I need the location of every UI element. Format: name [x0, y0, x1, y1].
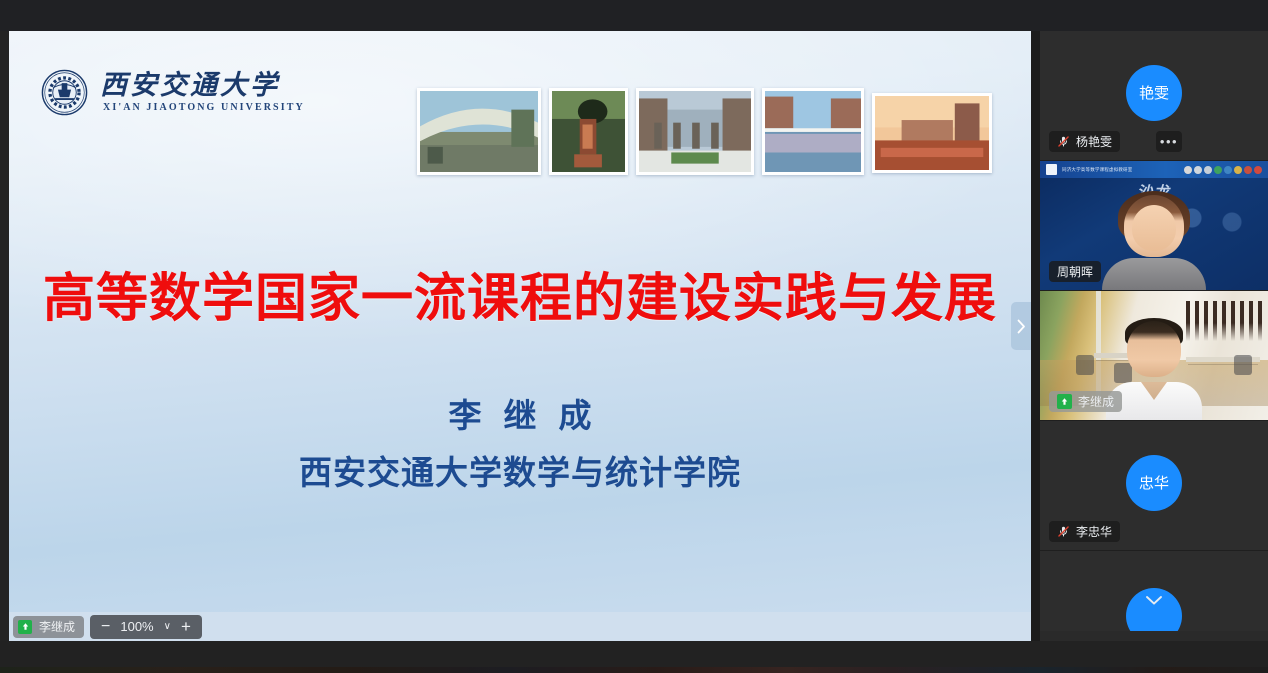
participant-name-badge: 杨艳雯: [1049, 131, 1120, 152]
university-name-cn: 西安交通大学: [100, 72, 305, 100]
campus-photo: [872, 93, 992, 173]
participant-name-badge: 周朝晖: [1049, 261, 1101, 282]
screen-share-icon: [1057, 394, 1072, 409]
participant-name-label: 李继成: [1078, 393, 1114, 410]
avatar-initials: 艳雯: [1139, 82, 1169, 103]
zoom-in-button[interactable]: +: [181, 618, 191, 635]
chevron-down-icon[interactable]: [1145, 595, 1163, 606]
bottom-window-bar: [0, 641, 1268, 673]
participant-tile[interactable]: 忠华 李忠华: [1040, 421, 1268, 551]
campus-photo-strip: [417, 88, 992, 175]
participant-name-label: 周朝晖: [1057, 263, 1093, 280]
participant-face: [1132, 205, 1176, 251]
campus-photo: [417, 88, 541, 175]
banner-icon-row: [1184, 166, 1262, 174]
zoom-dropdown-caret-icon[interactable]: ∨: [164, 622, 171, 632]
avatar-initials: 忠华: [1139, 472, 1169, 493]
participant-name-label: 杨艳雯: [1076, 133, 1112, 150]
campus-photo: [549, 88, 628, 175]
participant-tile[interactable]: 同济大学高等数学课程虚拟教研室 沙龙 周朝晖: [1040, 161, 1268, 291]
participant-tile[interactable]: 李继成: [1040, 291, 1268, 421]
mic-muted-icon: [1057, 525, 1070, 538]
participant-tile-partial[interactable]: [1040, 551, 1268, 631]
presentation-slide[interactable]: 西安交通大学 XI'AN JIAOTONG UNIVERSITY: [9, 31, 1031, 612]
share-toolbar: 李继成 − 100% ∨ +: [9, 612, 1031, 641]
bottom-bar-tint: [0, 667, 1268, 673]
sharer-name-badge: 李继成: [13, 616, 84, 638]
chair-decor: [1114, 363, 1132, 383]
share-left-border: [0, 31, 9, 641]
slide-presenter-name: 李继成: [9, 389, 1031, 437]
avatar: 艳雯: [1126, 65, 1182, 121]
zoom-level-value: 100%: [120, 620, 153, 633]
next-slide-button[interactable]: [1011, 302, 1031, 350]
banner-text: 同济大学高等数学课程虚拟教研室: [1062, 167, 1133, 173]
university-logo: 西安交通大学 XI'AN JIAOTONG UNIVERSITY: [41, 69, 305, 116]
participant-head: [1127, 321, 1181, 377]
more-options-icon[interactable]: •••: [1156, 131, 1182, 152]
chair-decor: [1234, 355, 1252, 375]
university-name-en: XI'AN JIAOTONG UNIVERSITY: [100, 102, 305, 113]
slide-title: 高等数学国家一流课程的建设实践与发展: [9, 256, 1031, 331]
slide-affiliation: 西安交通大学数学与统计学院: [9, 446, 1031, 494]
campus-photo: [762, 88, 864, 175]
participant-name-badge: 李继成: [1049, 391, 1122, 412]
zoom-control[interactable]: − 100% ∨ +: [90, 615, 202, 639]
virtual-background-banner: 同济大学高等数学课程虚拟教研室: [1040, 161, 1268, 178]
chair-decor: [1076, 355, 1094, 375]
sharer-name-label: 李继成: [39, 618, 75, 635]
top-window-bar: [0, 0, 1268, 31]
wall-art-decor: [1186, 301, 1262, 341]
campus-photo: [636, 88, 754, 175]
participant-tile[interactable]: 艳雯 杨艳雯 •••: [1040, 31, 1268, 161]
zoom-out-button[interactable]: −: [101, 619, 110, 635]
shared-content-region: 西安交通大学 XI'AN JIAOTONG UNIVERSITY: [0, 31, 1040, 641]
avatar: 忠华: [1126, 455, 1182, 511]
screen-share-icon: [18, 620, 32, 634]
mic-muted-icon: [1057, 135, 1070, 148]
participant-rail[interactable]: 艳雯 杨艳雯 ••• 同济大学高等数学课程虚拟教研室 沙龙: [1040, 31, 1268, 641]
banner-logo-icon: [1046, 164, 1057, 175]
logo-text-block: 西安交通大学 XI'AN JIAOTONG UNIVERSITY: [100, 72, 305, 113]
participant-name-label: 李忠华: [1076, 523, 1112, 540]
participant-body: [1102, 258, 1206, 290]
chevron-right-icon: [1017, 319, 1026, 334]
university-seal-icon: [41, 69, 88, 116]
participant-name-badge: 李忠华: [1049, 521, 1120, 542]
